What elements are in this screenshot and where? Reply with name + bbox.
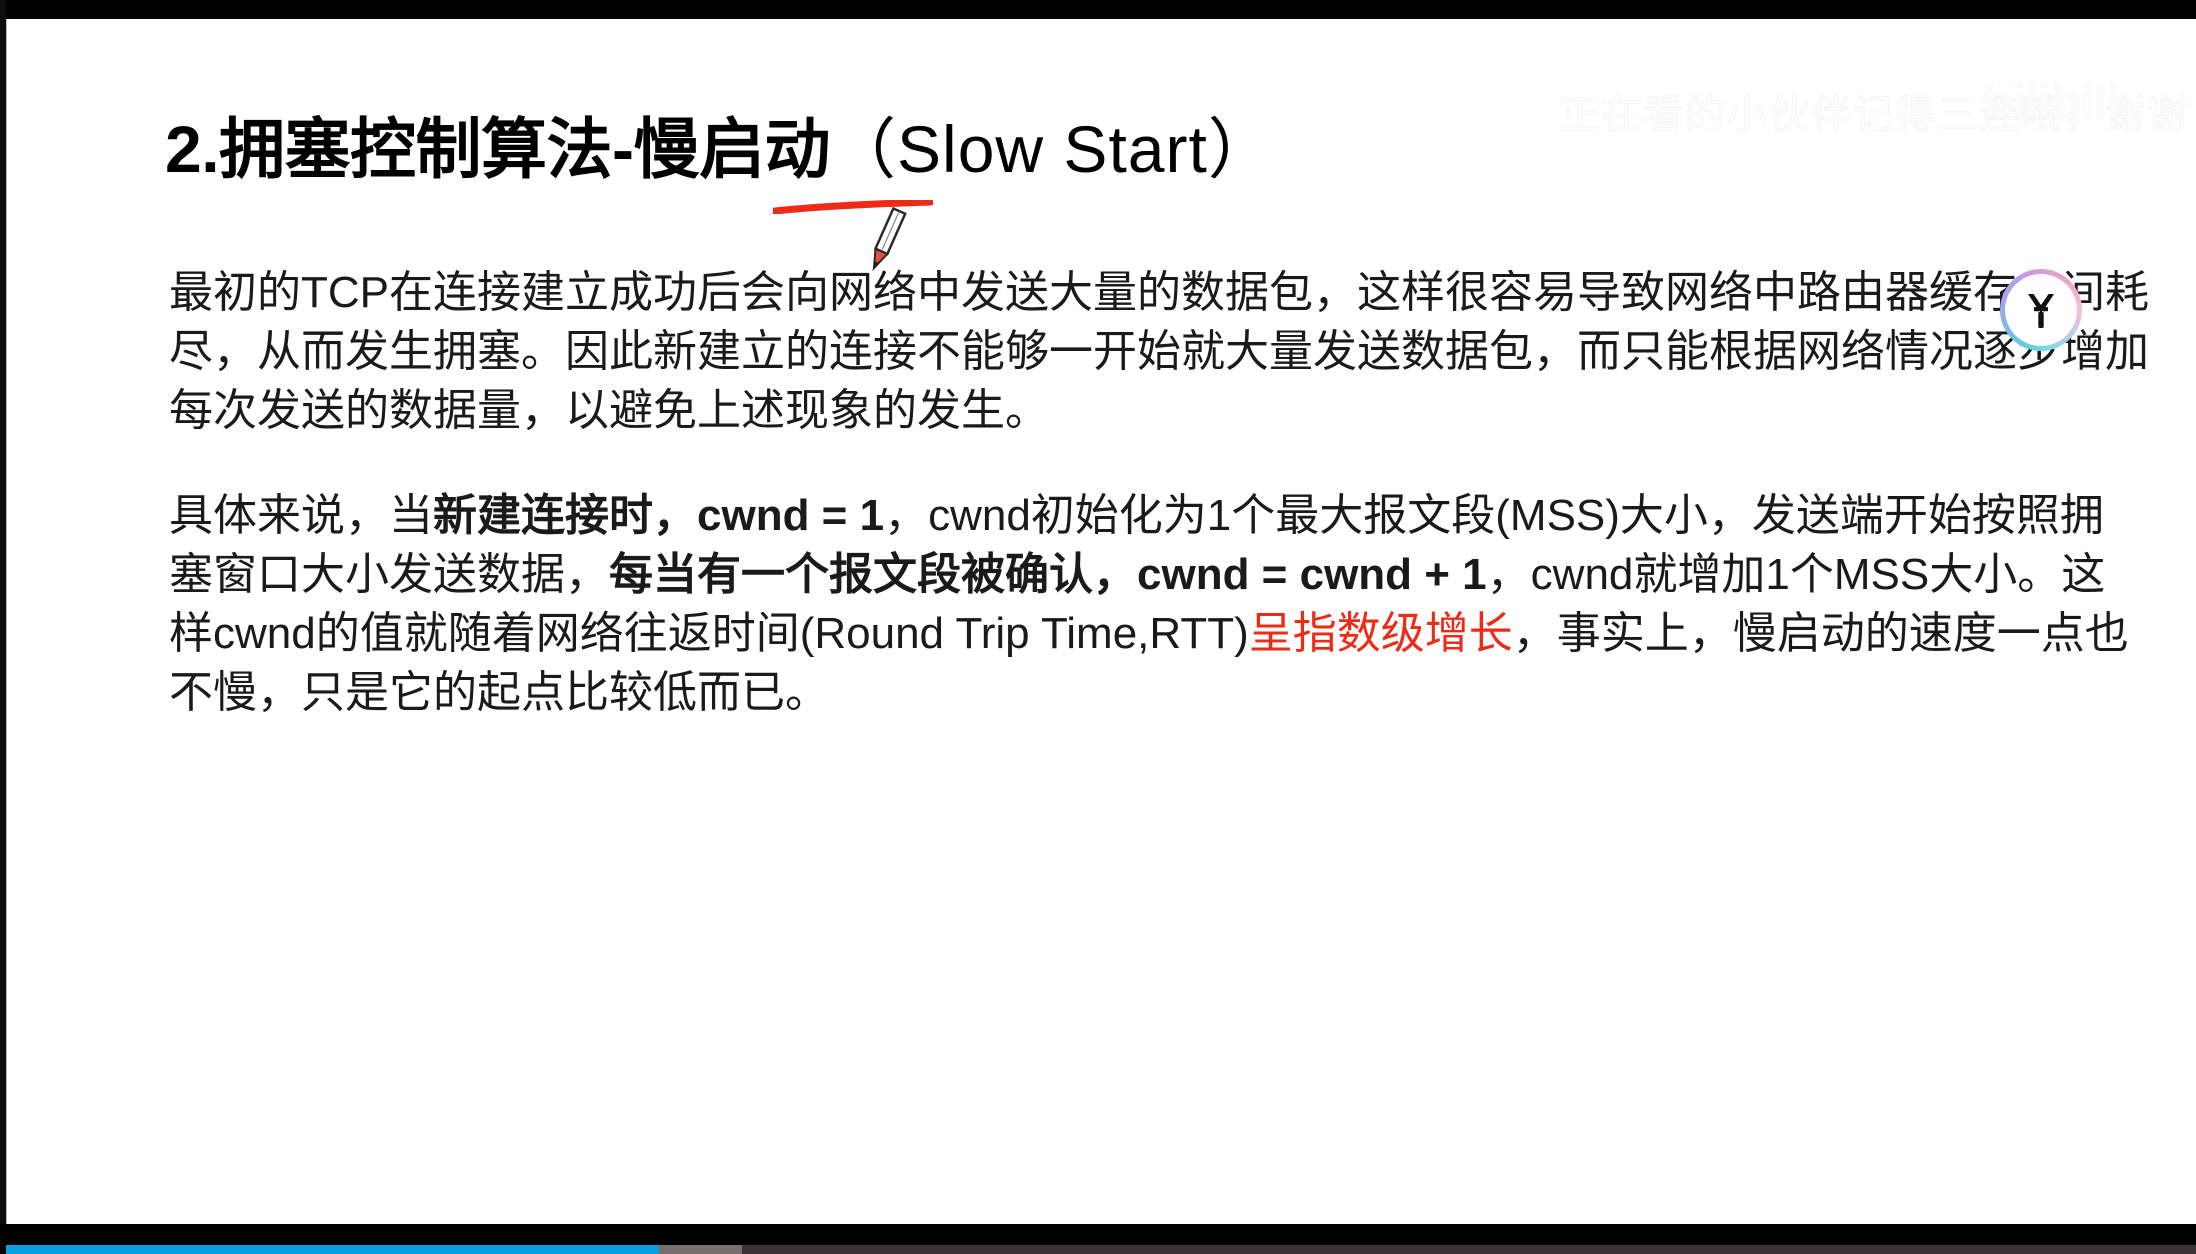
p2-l3-normal-b: ，事实上，慢启动的速度一点也 (1513, 609, 2129, 658)
p2-l2-bold: 每当有一个报文段被确认，cwnd = cwnd + 1 (609, 550, 1487, 599)
page-title-cn: 2.拥塞控制算法-慢启动 (165, 112, 830, 186)
left-letterbox (0, 0, 6, 1254)
p2-l1-bold: 新建连接时，cwnd = 1 (433, 491, 884, 540)
top-letterbox (0, 0, 2196, 19)
y-logo-icon (2017, 286, 2065, 334)
slide-page: 2.拥塞控制算法-慢启动（Slow Start） 最初的TCP在连接建立成功后会… (6, 18, 2196, 1224)
progress-bar-played (6, 1245, 659, 1254)
video-player[interactable]: 2.拥塞控制算法-慢启动（Slow Start） 最初的TCP在连接建立成功后会… (0, 0, 2196, 1254)
paragraph-1-line-3: 每次发送的数据量，以避免上述现象的发生。 (169, 381, 2149, 440)
watermark-text: 正在看的小伙伴记得三连哦，谢谢 (1559, 82, 2189, 140)
p2-l3-highlight: 呈指数级增长 (1249, 609, 1513, 658)
watermark: 正在看的小伙伴记得三连哦，谢谢 bilibili (1559, 68, 2119, 146)
progress-bar-track[interactable] (6, 1245, 2196, 1254)
p2-l1-normal-b: ，cwnd初始化为1个最大报文段(MSS)大小，发送端开始按照拥 (884, 491, 2104, 540)
player-control-bar[interactable] (0, 1224, 2196, 1254)
pen-cursor-icon (853, 204, 917, 280)
paragraph-2-line-3: 样cwnd的值就随着网络往返时间(Round Trip Time,RTT)呈指数… (169, 604, 2129, 663)
page-title-latin: （Slow Start） (830, 112, 1275, 186)
bilibili-logo: bilibili (1983, 72, 2119, 130)
paragraph-1-line-2: 尽，从而发生拥塞。因此新建立的连接不能够一开始就大量发送数据包，而只能根据网络情… (169, 322, 2149, 381)
paragraph-2-line-4: 不慢，只是它的起点比较低而已。 (169, 663, 2129, 722)
p2-l1-normal-a: 具体来说，当 (169, 491, 433, 540)
paragraph-1: 最初的TCP在连接建立成功后会向网络中发送大量的数据包，这样很容易导致网络中路由… (169, 263, 2149, 440)
paragraph-2: 具体来说，当新建连接时，cwnd = 1，cwnd初始化为1个最大报文段(MSS… (169, 486, 2129, 722)
p2-l2-normal-a: 塞窗口大小发送数据， (169, 550, 609, 599)
p2-l2-normal-b: ，cwnd就增加1个MSS大小。这 (1487, 550, 2106, 599)
paragraph-2-line-1: 具体来说，当新建连接时，cwnd = 1，cwnd初始化为1个最大报文段(MSS… (169, 486, 2129, 545)
paragraph-1-line-1: 最初的TCP在连接建立成功后会向网络中发送大量的数据包，这样很容易导致网络中路由… (169, 263, 2149, 322)
gradient-ring-badge (2000, 269, 2082, 351)
page-title: 2.拥塞控制算法-慢启动（Slow Start） (165, 96, 1275, 192)
paragraph-2-line-2: 塞窗口大小发送数据，每当有一个报文段被确认，cwnd = cwnd + 1，cw… (169, 545, 2129, 604)
p2-l3-normal-a: 样cwnd的值就随着网络往返时间(Round Trip Time,RTT) (169, 609, 1249, 658)
